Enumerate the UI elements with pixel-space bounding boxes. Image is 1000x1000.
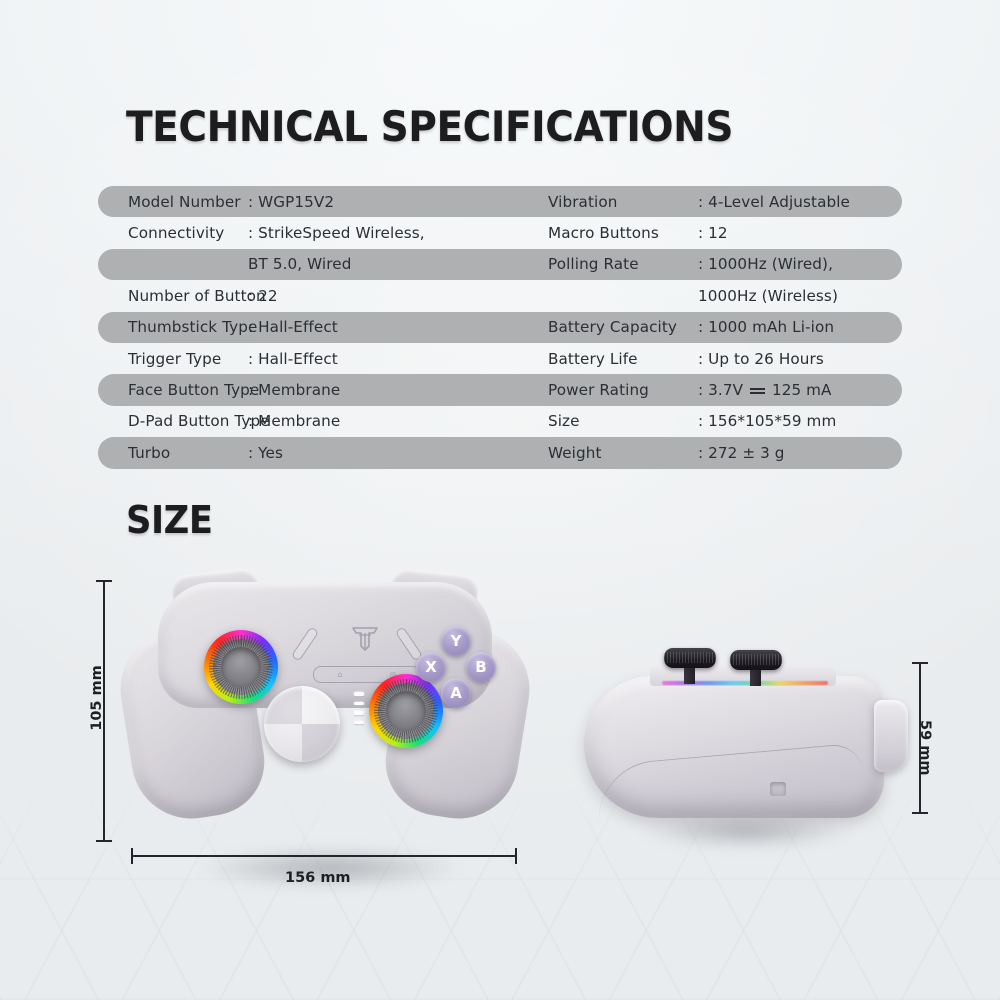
spec-label: Turbo xyxy=(98,444,248,462)
spec-value: BT 5.0, Wired xyxy=(248,255,538,273)
table-row: BT 5.0, WiredPolling Rate: 1000Hz (Wired… xyxy=(98,249,902,280)
dc-current-symbol xyxy=(750,386,765,396)
thumbstick-right[interactable] xyxy=(369,674,443,748)
spec-value: : WGP15V2 xyxy=(248,193,538,211)
table-cell-group-l: BT 5.0, Wired xyxy=(98,255,538,273)
table-cell-group-r: Polling Rate: 1000Hz (Wired), xyxy=(538,255,902,273)
side-crease-line xyxy=(594,742,866,826)
spec-value: : 22 xyxy=(248,287,538,305)
spec-label: Trigger Type xyxy=(98,350,248,368)
spec-value: : 12 xyxy=(698,224,902,242)
led-3 xyxy=(354,711,364,715)
specifications-table: Model Number: WGP15V2Vibration: 4-Level … xyxy=(98,186,902,469)
table-row: Trigger Type: Hall-EffectBattery Life: U… xyxy=(98,343,902,374)
table-row: Thumbstick Type: Hall-EffectBattery Capa… xyxy=(98,312,902,343)
spec-value: : StrikeSpeed Wireless, xyxy=(248,224,538,242)
table-row: Model Number: WGP15V2Vibration: 4-Level … xyxy=(98,186,902,217)
spec-value: : 156*105*59 mm xyxy=(698,412,902,430)
led-4 xyxy=(354,721,364,725)
spec-value: : Hall-Effect xyxy=(248,350,538,368)
table-cell-group-l: Face Button Type: Membrane xyxy=(98,381,538,399)
spec-value: : Hall-Effect xyxy=(248,318,538,336)
spec-label: Polling Rate xyxy=(538,255,698,273)
table-cell-group-r: Battery Capacity: 1000 mAh Li-ion xyxy=(538,318,902,336)
brand-logo-icon xyxy=(350,624,380,652)
face-button-y[interactable]: Y xyxy=(441,626,471,656)
table-cell-group-l: D-Pad Button Type: Membrane xyxy=(98,412,538,430)
spec-value: : Membrane xyxy=(248,412,538,430)
spec-label: Power Rating xyxy=(538,381,698,399)
spec-value: : Up to 26 Hours xyxy=(698,350,902,368)
table-row: Connectivity: StrikeSpeed Wireless,Macro… xyxy=(98,217,902,248)
section-title-size: SIZE xyxy=(126,498,213,542)
controller-side-view xyxy=(584,648,904,833)
spec-label: Size xyxy=(538,412,698,430)
thumbstick-left[interactable] xyxy=(204,630,278,704)
spec-label: Weight xyxy=(538,444,698,462)
page-title-specifications: TECHNICAL SPECIFICATIONS xyxy=(126,102,733,151)
spec-value: : 1000 mAh Li-ion xyxy=(698,318,902,336)
table-cell-group-r: Power Rating: 3.7V 125 mA xyxy=(538,381,902,399)
side-port xyxy=(770,782,786,796)
spec-label: Thumbstick Type xyxy=(98,318,248,336)
face-button-x[interactable]: X xyxy=(416,652,446,682)
table-cell-group-l: Model Number: WGP15V2 xyxy=(98,193,538,211)
depth-dimension-label: 59 mm xyxy=(917,720,933,775)
spec-value: : Membrane xyxy=(248,381,538,399)
face-button-a[interactable]: A xyxy=(441,678,471,708)
home-button-icon[interactable]: ⌂ xyxy=(337,670,342,679)
depth-dimension-cap-bottom xyxy=(912,812,928,814)
table-cell-group-l: Thumbstick Type: Hall-Effect xyxy=(98,318,538,336)
side-shell xyxy=(584,676,884,818)
table-cell-group-r: Weight: 272 ± 3 g xyxy=(538,444,902,462)
product-spec-page: TECHNICAL SPECIFICATIONS Model Number: W… xyxy=(0,0,1000,1000)
dpad[interactable] xyxy=(264,686,340,762)
spec-value: : 4-Level Adjustable xyxy=(698,193,902,211)
spec-label: Number of Button xyxy=(98,287,248,305)
spec-label: Face Button Type xyxy=(98,381,248,399)
spec-label: Battery Life xyxy=(538,350,698,368)
table-row: Number of Button: 221000Hz (Wireless) xyxy=(98,280,902,311)
controller-front-view: ⌂ ◎ Y X B A xyxy=(122,570,528,855)
led-indicators xyxy=(354,692,364,730)
led-1 xyxy=(354,692,364,696)
table-cell-group-l: Trigger Type: Hall-Effect xyxy=(98,350,538,368)
height-dimension-cap-top xyxy=(96,580,112,582)
table-cell-group-l: Connectivity: StrikeSpeed Wireless, xyxy=(98,224,538,242)
table-cell-group-r: Macro Buttons: 12 xyxy=(538,224,902,242)
spec-value: : 272 ± 3 g xyxy=(698,444,902,462)
table-row: D-Pad Button Type: MembraneSize: 156*105… xyxy=(98,406,902,437)
spec-value: 1000Hz (Wireless) xyxy=(698,287,902,305)
led-2 xyxy=(354,702,364,706)
width-dimension-cap-left xyxy=(131,848,133,864)
function-slot-left-icon[interactable] xyxy=(291,626,319,661)
table-cell-group-l: Turbo: Yes xyxy=(98,444,538,462)
side-trigger[interactable] xyxy=(874,700,908,772)
side-thumbstick-left[interactable] xyxy=(664,648,716,668)
width-dimension-cap-right xyxy=(515,848,517,864)
table-cell-group-r: Size: 156*105*59 mm xyxy=(538,412,902,430)
spec-value: : Yes xyxy=(248,444,538,462)
width-dimension-label: 156 mm xyxy=(285,870,351,886)
table-cell-group-r: 1000Hz (Wireless) xyxy=(538,287,902,305)
width-dimension-line xyxy=(131,855,516,857)
table-cell-group-r: Battery Life: Up to 26 Hours xyxy=(538,350,902,368)
spec-label: D-Pad Button Type xyxy=(98,412,248,430)
side-thumbstick-right[interactable] xyxy=(730,650,782,670)
table-row: Face Button Type: MembranePower Rating: … xyxy=(98,374,902,405)
table-cell-group-l: Number of Button: 22 xyxy=(98,287,538,305)
table-row: Turbo: YesWeight: 272 ± 3 g xyxy=(98,437,902,468)
spec-value: : 1000Hz (Wired), xyxy=(698,255,902,273)
table-cell-group-r: Vibration: 4-Level Adjustable xyxy=(538,193,902,211)
spec-label: Model Number xyxy=(98,193,248,211)
spec-label: Macro Buttons xyxy=(538,224,698,242)
height-dimension-cap-bottom xyxy=(96,840,112,842)
face-button-b[interactable]: B xyxy=(466,652,496,682)
spec-label: Vibration xyxy=(538,193,698,211)
spec-value: : 3.7V 125 mA xyxy=(698,381,902,399)
depth-dimension-cap-top xyxy=(912,662,928,664)
spec-label: Connectivity xyxy=(98,224,248,242)
controller-body: ⌂ ◎ Y X B A xyxy=(158,582,492,708)
spec-label: Battery Capacity xyxy=(538,318,698,336)
height-dimension-label: 105 mm xyxy=(89,665,105,731)
